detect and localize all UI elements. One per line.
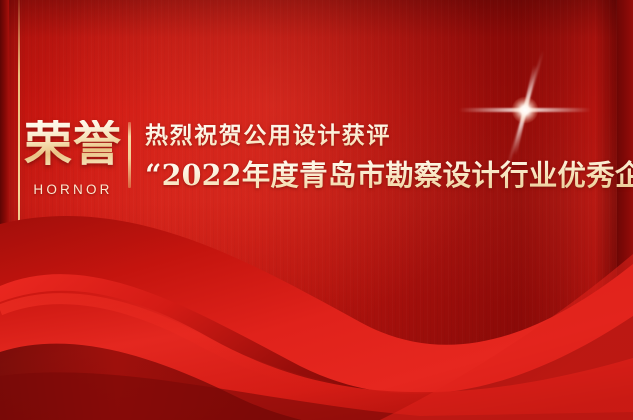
honor-title-cn: 荣誉 — [24, 120, 122, 170]
honor-title-en: HORNOR — [33, 182, 112, 197]
honor-label-block: 荣誉 HORNOR — [26, 118, 120, 197]
honor-banner: 荣誉 HORNOR 热烈祝贺公用设计获评 “2022年度青岛市勘察设计行业优秀企… — [0, 0, 633, 420]
silk-ribbon-wave — [0, 190, 633, 420]
vertical-divider-icon — [128, 122, 131, 188]
headline-line-1: 热烈祝贺公用设计获评 — [145, 120, 633, 151]
banner-content: 荣誉 HORNOR 热烈祝贺公用设计获评 “2022年度青岛市勘察设计行业优秀企… — [26, 118, 633, 197]
headline-line-2: “2022年度青岛市勘察设计行业优秀企业”等荣誉 — [145, 158, 633, 193]
headline-block: 热烈祝贺公用设计获评 “2022年度青岛市勘察设计行业优秀企业”等荣誉 — [145, 118, 633, 193]
